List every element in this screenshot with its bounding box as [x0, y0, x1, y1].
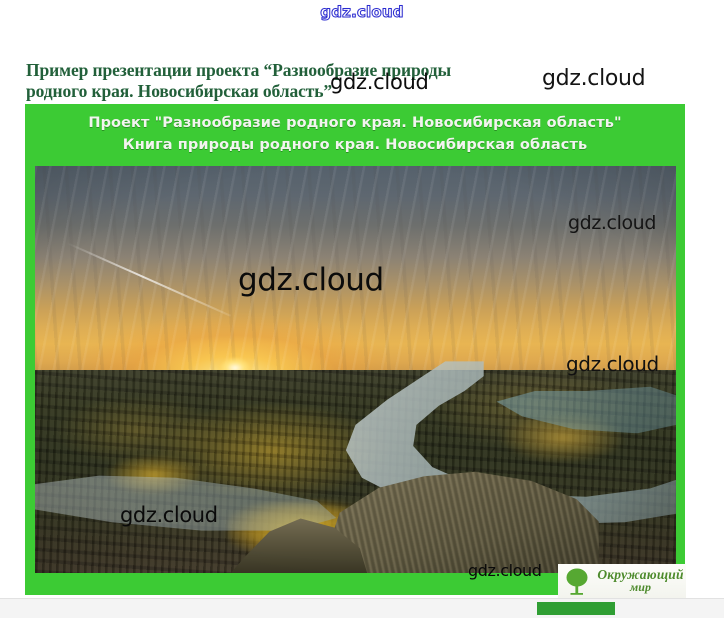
watermark-header-right: gdz.cloud [542, 66, 645, 91]
brand-label: Окружающий мир [595, 569, 686, 593]
watermark-photo-center: gdz.cloud [238, 262, 384, 298]
watermark-top: gdz.cloud [0, 3, 724, 21]
watermark-photo-upper-right: gdz.cloud [568, 212, 656, 234]
tree-icon [562, 566, 592, 596]
slide-heading: Проект "Разнообразие родного края. Новос… [25, 112, 685, 156]
watermark-header-left: gdz.cloud [330, 70, 429, 94]
bottom-strip [0, 598, 724, 618]
slide-heading-line1: Проект "Разнообразие родного края. Новос… [25, 112, 685, 134]
watermark-photo-lower-left: gdz.cloud [120, 503, 218, 527]
bottom-green-chip [537, 602, 615, 615]
watermark-photo-bottom: gdz.cloud [468, 561, 542, 580]
slide-heading-line2: Книга природы родного края. Новосибирска… [25, 134, 685, 156]
brand-label-line2: мир [595, 581, 686, 593]
watermark-photo-mid-right: gdz.cloud [566, 352, 659, 376]
brand-badge: Окружающий мир [558, 564, 686, 598]
